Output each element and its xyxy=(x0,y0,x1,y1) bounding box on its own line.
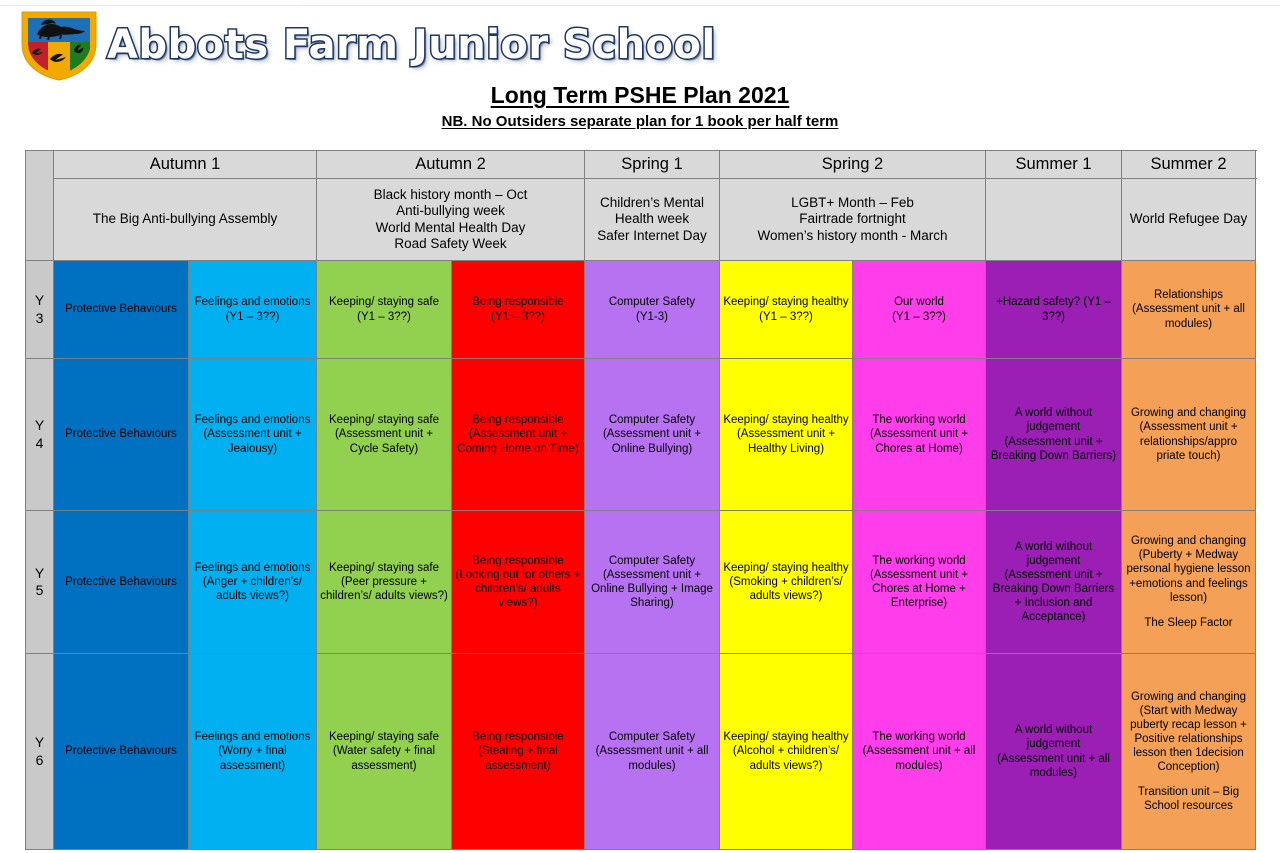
term-events-spring-2: LGBT+ Month – FebFairtrade fortnightWome… xyxy=(720,179,986,261)
unit-cell-text: Computer Safety(Assessment unit + all mo… xyxy=(588,730,716,772)
unit-cell-y3-6: Keeping/ staying healthy(Y1 – 3??) xyxy=(720,261,853,359)
year-label-y6: Y6 xyxy=(26,654,54,850)
unit-cell-text: Feelings and emotions(Y1 – 3??) xyxy=(192,295,313,323)
unit-cell-y3-8: +Hazard safety? (Y1 – 3??) xyxy=(986,261,1122,359)
unit-cell-y6-7: The working world(Assessment unit + all … xyxy=(853,654,986,850)
unit-cell-text: Protective Behaviours xyxy=(57,744,185,758)
unit-cell-text: Feelings and emotions(Worry + final asse… xyxy=(192,730,313,772)
unit-cell-y4-3: Keeping/ staying safe(Assessment unit + … xyxy=(317,359,452,511)
unit-cell-y6-1: Protective Behaviours xyxy=(54,654,189,850)
unit-cell-text: Relationships(Assessment unit + all modu… xyxy=(1125,288,1252,330)
page-subtitle: NB. No Outsiders separate plan for 1 boo… xyxy=(0,113,1280,130)
unit-cell-text: Protective Behaviours xyxy=(57,427,185,441)
unit-cell-text: Being responsible(Y1 – 3??) xyxy=(455,295,581,323)
unit-cell-text: The working world(Assessment unit + all … xyxy=(856,730,982,772)
unit-cell-text: The working world(Assessment unit + Chor… xyxy=(856,554,982,610)
unit-cell-y5-7: The working world(Assessment unit + Chor… xyxy=(853,511,986,654)
year-label-y5: Y5 xyxy=(26,511,54,654)
unit-cell-extra-text: Transition unit – Big School resources xyxy=(1125,785,1252,813)
unit-cell-text: Growing and changing(Assessment unit + r… xyxy=(1125,406,1252,462)
term-header-summer-2: Summer 2 xyxy=(1122,151,1256,179)
term-name-row: Autumn 1 Autumn 2 Spring 1 Spring 2 Summ… xyxy=(26,151,1256,179)
unit-cell-text: Being responsible(Assessment unit + Comi… xyxy=(455,413,581,455)
unit-cell-y5-4: Being responsible(Looking out for others… xyxy=(452,511,585,654)
unit-cell-text: Our world(Y1 – 3??) xyxy=(856,295,982,323)
unit-cell-text: A world without judgement(Assessment uni… xyxy=(989,540,1118,624)
unit-cell-text: Keeping/ staying healthy(Assessment unit… xyxy=(723,413,849,455)
term-header-summer-1: Summer 1 xyxy=(986,151,1122,179)
unit-cell-text: Keeping/ staying safe(Water safety + fin… xyxy=(320,730,448,772)
unit-cell-y4-4: Being responsible(Assessment unit + Comi… xyxy=(452,359,585,511)
unit-cell-y6-9: Growing and changing(Start with Medway p… xyxy=(1122,654,1256,850)
unit-cell-y6-6: Keeping/ staying healthy (Alcohol + chil… xyxy=(720,654,853,850)
year-label-y4: Y4 xyxy=(26,359,54,511)
pshe-long-term-plan-table: Autumn 1 Autumn 2 Spring 1 Spring 2 Summ… xyxy=(25,150,1256,850)
unit-cell-text: Protective Behaviours xyxy=(57,575,185,589)
term-events-row: The Big Anti-bullying Assembly Black his… xyxy=(26,179,1256,261)
unit-cell-text: Feelings and emotions(Assessment unit + … xyxy=(192,413,313,455)
unit-cell-y6-3: Keeping/ staying safe(Water safety + fin… xyxy=(317,654,452,850)
unit-cell-extra-text: The Sleep Factor xyxy=(1125,616,1252,630)
unit-cell-text: +Hazard safety? (Y1 – 3??) xyxy=(989,295,1118,323)
page-subtitle-text: NB. No Outsiders separate plan for 1 boo… xyxy=(442,113,839,130)
unit-cell-y3-3: Keeping/ staying safe(Y1 – 3??) xyxy=(317,261,452,359)
term-events-spring-1: Children’s Mental Health weekSafer Inter… xyxy=(585,179,720,261)
page-title: Long Term PSHE Plan 2021 xyxy=(0,82,1280,109)
unit-cell-y5-8: A world without judgement(Assessment uni… xyxy=(986,511,1122,654)
unit-cell-y4-5: Computer Safety(Assessment unit + Online… xyxy=(585,359,720,511)
unit-cell-text: Being responsible(Stealing + final asses… xyxy=(455,730,581,772)
unit-cell-y4-6: Keeping/ staying healthy(Assessment unit… xyxy=(720,359,853,511)
unit-cell-y6-8: A world without judgement(Assessment uni… xyxy=(986,654,1122,850)
unit-cell-text: Keeping/ staying healthy (Alcohol + chil… xyxy=(723,730,849,772)
unit-cell-text: Keeping/ staying healthy(Smoking + child… xyxy=(723,561,849,603)
term-header-spring-2: Spring 2 xyxy=(720,151,986,179)
unit-cell-text: Protective Behaviours xyxy=(57,302,185,316)
unit-cell-y5-9: Growing and changing(Puberty + Medway pe… xyxy=(1122,511,1256,654)
unit-cell-y4-2: Feelings and emotions(Assessment unit + … xyxy=(189,359,317,511)
unit-cell-text: Computer Safety(Assessment unit + Online… xyxy=(588,413,716,455)
unit-cell-text: Feelings and emotions(Anger + children’s… xyxy=(192,561,313,603)
unit-cell-y3-7: Our world(Y1 – 3??) xyxy=(853,261,986,359)
unit-cell-spacer xyxy=(1125,774,1252,785)
unit-cell-y5-6: Keeping/ staying healthy(Smoking + child… xyxy=(720,511,853,654)
unit-cell-y3-1: Protective Behaviours xyxy=(54,261,189,359)
page-title-text: Long Term PSHE Plan 2021 xyxy=(491,82,790,108)
term-events-autumn-1: The Big Anti-bullying Assembly xyxy=(54,179,317,261)
unit-cell-y5-1: Protective Behaviours xyxy=(54,511,189,654)
unit-cell-text: The working world(Assessment unit + Chor… xyxy=(856,413,982,455)
unit-cell-text: Growing and changing(Puberty + Medway pe… xyxy=(1125,534,1252,604)
unit-cell-text: Growing and changing(Start with Medway p… xyxy=(1125,690,1252,774)
masthead: Abbots Farm Junior School xyxy=(0,6,1280,72)
unit-cell-text: Keeping/ staying safe(Assessment unit + … xyxy=(320,413,448,455)
unit-cell-text: A world without judgement(Assessment uni… xyxy=(989,723,1118,779)
unit-cell-y6-4: Being responsible(Stealing + final asses… xyxy=(452,654,585,850)
unit-cell-text: Computer Safety(Y1-3) xyxy=(588,295,716,323)
year-label-y3: Y3 xyxy=(26,261,54,359)
unit-cell-y5-3: Keeping/ staying safe(Peer pressure + ch… xyxy=(317,511,452,654)
corner-blank-cell xyxy=(26,151,54,261)
term-events-autumn-2: Black history month – OctAnti-bullying w… xyxy=(317,179,585,261)
school-crest-shield-icon xyxy=(17,8,101,82)
term-events-summer-2: World Refugee Day xyxy=(1122,179,1256,261)
unit-cell-y4-1: Protective Behaviours xyxy=(54,359,189,511)
unit-cell-y6-2: Feelings and emotions(Worry + final asse… xyxy=(189,654,317,850)
unit-cell-text: Keeping/ staying safe(Peer pressure + ch… xyxy=(320,561,448,603)
unit-cell-y4-7: The working world(Assessment unit + Chor… xyxy=(853,359,986,511)
unit-cell-text: Computer Safety(Assessment unit + Online… xyxy=(588,554,716,610)
year-row-y6: Y6Protective BehavioursFeelings and emot… xyxy=(26,654,1256,850)
term-header-autumn-2: Autumn 2 xyxy=(317,151,585,179)
unit-cell-text: A world without judgement(Assessment uni… xyxy=(989,406,1118,462)
unit-cell-y6-5: Computer Safety(Assessment unit + all mo… xyxy=(585,654,720,850)
unit-cell-y5-2: Feelings and emotions(Anger + children’s… xyxy=(189,511,317,654)
year-row-y3: Y3Protective BehavioursFeelings and emot… xyxy=(26,261,1256,359)
term-header-spring-1: Spring 1 xyxy=(585,151,720,179)
top-strip-ghost xyxy=(300,0,1000,5)
unit-cell-y4-8: A world without judgement(Assessment uni… xyxy=(986,359,1122,511)
unit-cell-text: Keeping/ staying healthy(Y1 – 3??) xyxy=(723,295,849,323)
unit-cell-spacer xyxy=(1125,605,1252,616)
year-row-y5: Y5Protective BehavioursFeelings and emot… xyxy=(26,511,1256,654)
unit-cell-y4-9: Growing and changing(Assessment unit + r… xyxy=(1122,359,1256,511)
term-events-summer-1 xyxy=(986,179,1122,261)
unit-cell-text: Being responsible(Looking out for others… xyxy=(455,554,581,610)
year-row-y4: Y4Protective BehavioursFeelings and emot… xyxy=(26,359,1256,511)
school-name: Abbots Farm Junior School xyxy=(107,22,716,68)
unit-cell-text: Keeping/ staying safe(Y1 – 3??) xyxy=(320,295,448,323)
unit-cell-y3-2: Feelings and emotions(Y1 – 3??) xyxy=(189,261,317,359)
unit-cell-y5-5: Computer Safety(Assessment unit + Online… xyxy=(585,511,720,654)
unit-cell-y3-4: Being responsible(Y1 – 3??) xyxy=(452,261,585,359)
term-header-autumn-1: Autumn 1 xyxy=(54,151,317,179)
unit-cell-y3-9: Relationships(Assessment unit + all modu… xyxy=(1122,261,1256,359)
unit-cell-y3-5: Computer Safety(Y1-3) xyxy=(585,261,720,359)
